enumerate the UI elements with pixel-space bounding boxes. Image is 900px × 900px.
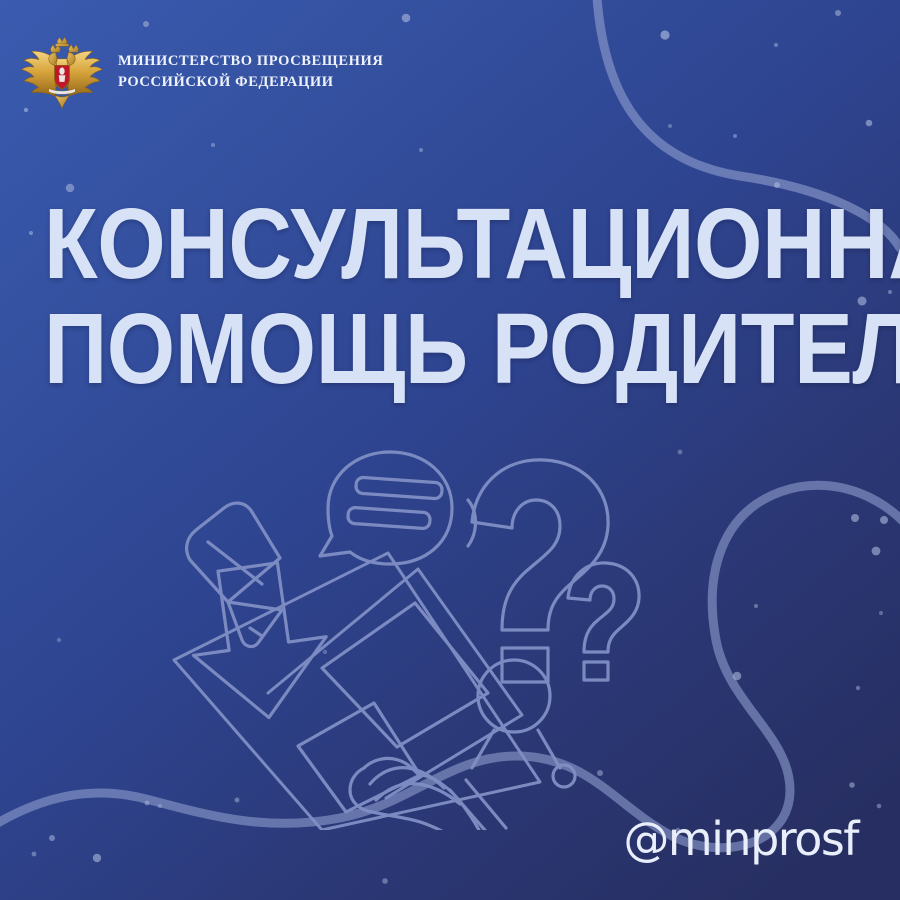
pen-marker-icon xyxy=(187,503,282,646)
russian-emblem-icon xyxy=(20,34,104,110)
bubble-text-line-1 xyxy=(356,477,443,499)
header: МИНИСТЕРСТВО ПРОСВЕЩЕНИЯ РОССИЙСКОЙ ФЕДЕ… xyxy=(20,34,383,110)
ministry-line-2: РОССИЙСКОЙ ФЕДЕРАЦИИ xyxy=(118,72,383,93)
poster-canvas: МИНИСТЕРСТВО ПРОСВЕЩЕНИЯ РОССИЙСКОЙ ФЕДЕ… xyxy=(0,0,900,900)
magnifier-icon xyxy=(472,660,575,787)
social-handle[interactable]: @minprosf xyxy=(623,816,858,862)
consultation-illustration xyxy=(150,450,670,830)
document-field-upper xyxy=(322,603,488,747)
page-title: КОНСУЛЬТАЦИОННАЯ ПОМОЩЬ РОДИТЕЛЯМ xyxy=(44,196,874,398)
ministry-line-1: МИНИСТЕРСТВО ПРОСВЕЩЕНИЯ xyxy=(118,51,383,72)
title-line-2: ПОМОЩЬ РОДИТЕЛЯМ xyxy=(44,301,774,398)
question-mark-large-icon xyxy=(472,460,608,682)
document-field-lower xyxy=(298,703,420,812)
document-outer-card xyxy=(268,569,522,798)
bubble-text-line-2 xyxy=(348,507,431,529)
speech-bubble-icon xyxy=(320,452,452,564)
question-mark-small-icon xyxy=(568,563,639,680)
ministry-name: МИНИСТЕРСТВО ПРОСВЕЩЕНИЯ РОССИЙСКОЙ ФЕДЕ… xyxy=(118,51,383,92)
title-line-1: КОНСУЛЬТАЦИОННАЯ xyxy=(44,196,774,293)
